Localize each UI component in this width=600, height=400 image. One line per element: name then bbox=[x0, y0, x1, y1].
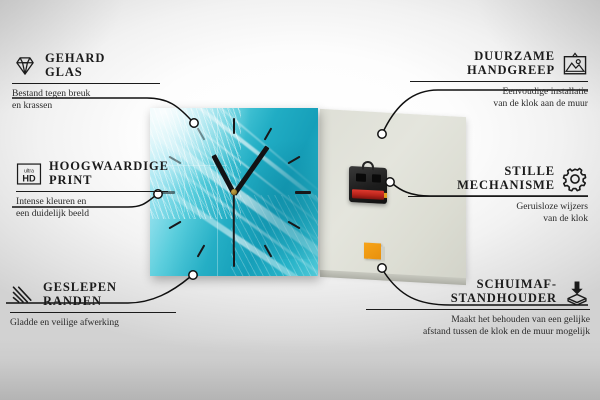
foam-spacer-pad bbox=[364, 243, 381, 260]
callout-stille-mechanisme[interactable]: STILLE MECHANISME Geruisloze wijzers van… bbox=[408, 165, 588, 225]
callout-rule bbox=[16, 191, 168, 192]
callout-description: Maakt het behouden van een gelijke afsta… bbox=[366, 314, 590, 337]
svg-text:HD: HD bbox=[22, 173, 36, 183]
callout-title: HOOGWAARDIGE PRINT bbox=[49, 160, 169, 187]
infographic-canvas: GEHARD GLAS Bestand tegen breuk en krass… bbox=[0, 0, 600, 400]
callout-title: DUURZAME HANDGREEP bbox=[467, 50, 555, 77]
callout-duurzame-handgreep[interactable]: DUURZAME HANDGREEP Eenvoudige installati… bbox=[410, 50, 588, 110]
ultra-hd-icon: ultra HD bbox=[16, 161, 42, 187]
hour-marker-12 bbox=[233, 118, 235, 134]
callout-gehard-glas[interactable]: GEHARD GLAS Bestand tegen breuk en krass… bbox=[12, 52, 172, 112]
bevelled-edges-icon bbox=[10, 282, 36, 308]
foam-spacer-icon bbox=[564, 279, 590, 305]
callout-description: Intense kleuren en een duidelijk beeld bbox=[16, 196, 186, 219]
aa-battery bbox=[352, 189, 384, 200]
mechanism-hanger bbox=[362, 161, 374, 171]
picture-frame-icon bbox=[562, 51, 588, 77]
callout-geslepen-randen[interactable]: GESLEPEN RANDEN Gladde en veilige afwerk… bbox=[10, 281, 190, 329]
callout-description: Gladde en veilige afwerking bbox=[10, 317, 190, 329]
callout-title: GEHARD GLAS bbox=[45, 52, 105, 79]
callout-description: Geruisloze wijzers van de klok bbox=[408, 201, 588, 224]
gear-icon bbox=[562, 166, 588, 192]
mechanism-slot-left bbox=[356, 173, 366, 182]
callout-title: GESLEPEN RANDEN bbox=[43, 281, 117, 308]
callout-title: SCHUIMAF- STANDHOUDER bbox=[451, 278, 557, 305]
callout-rule bbox=[366, 309, 590, 310]
callout-rule bbox=[408, 196, 588, 197]
callout-rule bbox=[10, 312, 176, 313]
callout-rule bbox=[410, 81, 588, 82]
callout-hoogwaardige-print[interactable]: ultra HD HOOGWAARDIGE PRINT Intense kleu… bbox=[16, 160, 186, 220]
hour-marker-3 bbox=[295, 191, 311, 194]
callout-description: Eenvoudige installatie van de klok aan d… bbox=[410, 86, 588, 109]
callout-description: Bestand tegen breuk en krassen bbox=[12, 88, 172, 111]
callout-schuimafstandhouder[interactable]: SCHUIMAF- STANDHOUDER Maakt het behouden… bbox=[366, 278, 590, 338]
callout-rule bbox=[12, 83, 160, 84]
diamond-icon bbox=[12, 53, 38, 79]
mechanism-slot-right bbox=[372, 174, 381, 182]
callout-title: STILLE MECHANISME bbox=[457, 165, 555, 192]
clock-mechanism bbox=[349, 166, 387, 204]
clock-center-cap bbox=[231, 189, 237, 195]
clock-second-hand bbox=[233, 193, 235, 255]
